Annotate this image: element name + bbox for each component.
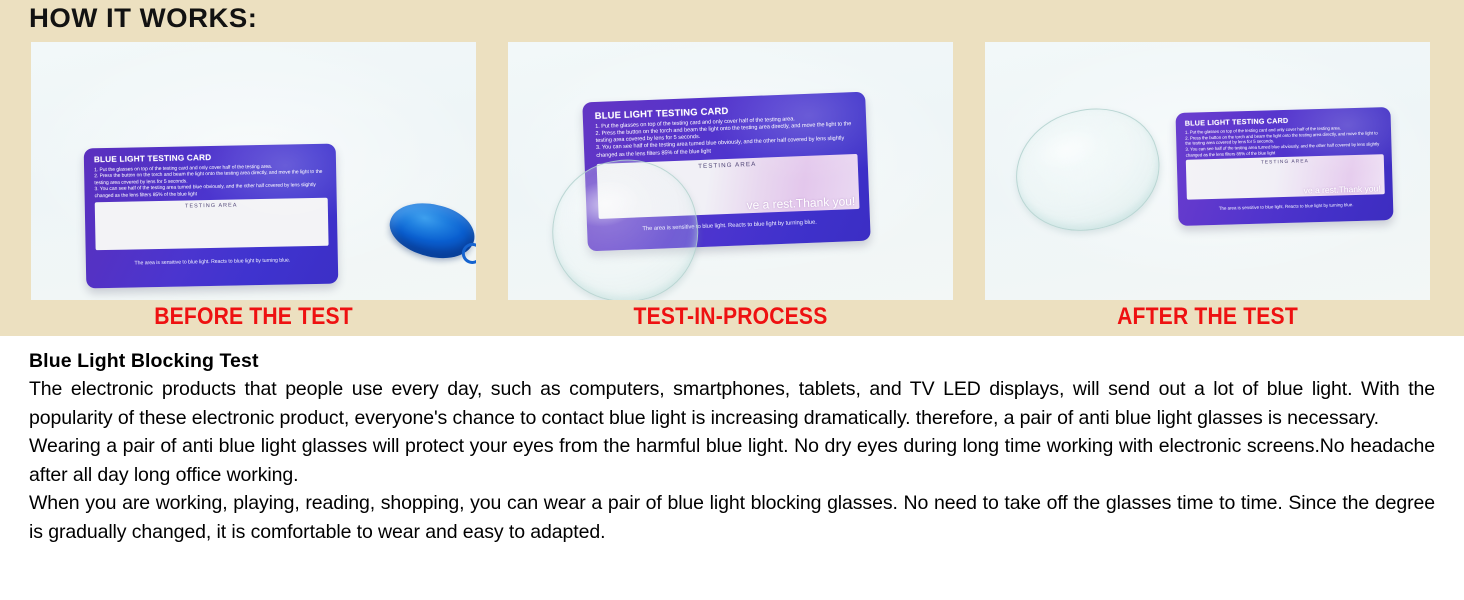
description-paragraph: The electronic products that people use …	[29, 375, 1435, 432]
blue-light-testing-card: BLUE LIGHT TESTING CARD 1. Put the glass…	[84, 144, 339, 289]
page-title: HOW IT WORKS:	[29, 3, 257, 34]
card-steps-list: 1. Put the glasses on top of the testing…	[94, 163, 328, 199]
photo-panels-row: BLUE LIGHT TESTING CARD 1. Put the glass…	[0, 42, 1464, 300]
panel-caption-before-the-test: BEFORE THE TEST	[58, 303, 450, 331]
testing-area-label: TESTING AREA	[95, 201, 328, 211]
revealed-message: ve a rest.Thank you!	[746, 194, 855, 212]
blue-torch	[383, 189, 476, 275]
blue-light-testing-card: BLUE LIGHT TESTING CARD 1. Put the glass…	[1175, 107, 1393, 226]
description-heading: Blue Light Blocking Test	[29, 350, 1435, 373]
card-steps-list: 1. Put the glasses on top of the testing…	[595, 114, 857, 160]
description-section: Blue Light Blocking Test The electronic …	[0, 336, 1464, 600]
card-footer-note: The area is sensitive to blue light. Rea…	[96, 255, 329, 267]
card-steps-list: 1. Put the glasses on top of the testing…	[1185, 124, 1384, 158]
panel-caption-test-in-process: TEST-IN-PROCESS	[535, 303, 927, 331]
testing-area-box: TESTING AREA ve a rest.Thank you!	[1186, 154, 1385, 200]
revealed-message: ve a rest.Thank you!	[1304, 183, 1381, 195]
card-footer-note: The area is sensitive to blue light. Rea…	[1187, 199, 1385, 212]
description-paragraph: Wearing a pair of anti blue light glasse…	[29, 432, 1435, 489]
how-it-works-section: HOW IT WORKS: BLUE LIGHT TESTING CARD 1.…	[0, 0, 1464, 336]
photo-panel-after-the-test: BLUE LIGHT TESTING CARD 1. Put the glass…	[985, 42, 1430, 300]
description-paragraph: When you are working, playing, reading, …	[29, 489, 1435, 546]
testing-area-label: TESTING AREA	[1186, 157, 1384, 168]
lens-highlight	[568, 175, 644, 231]
eyeglass-lens	[1001, 92, 1173, 247]
photo-panel-test-in-process: BLUE LIGHT TESTING CARD 1. Put the glass…	[508, 42, 953, 300]
photo-panel-before-the-test: BLUE LIGHT TESTING CARD 1. Put the glass…	[31, 42, 476, 300]
panel-caption-after-the-test: AFTER THE TEST	[1012, 303, 1404, 331]
lens-highlight	[1028, 121, 1104, 176]
card-title: BLUE LIGHT TESTING CARD	[94, 151, 327, 164]
testing-area-box: TESTING AREA	[95, 198, 329, 250]
